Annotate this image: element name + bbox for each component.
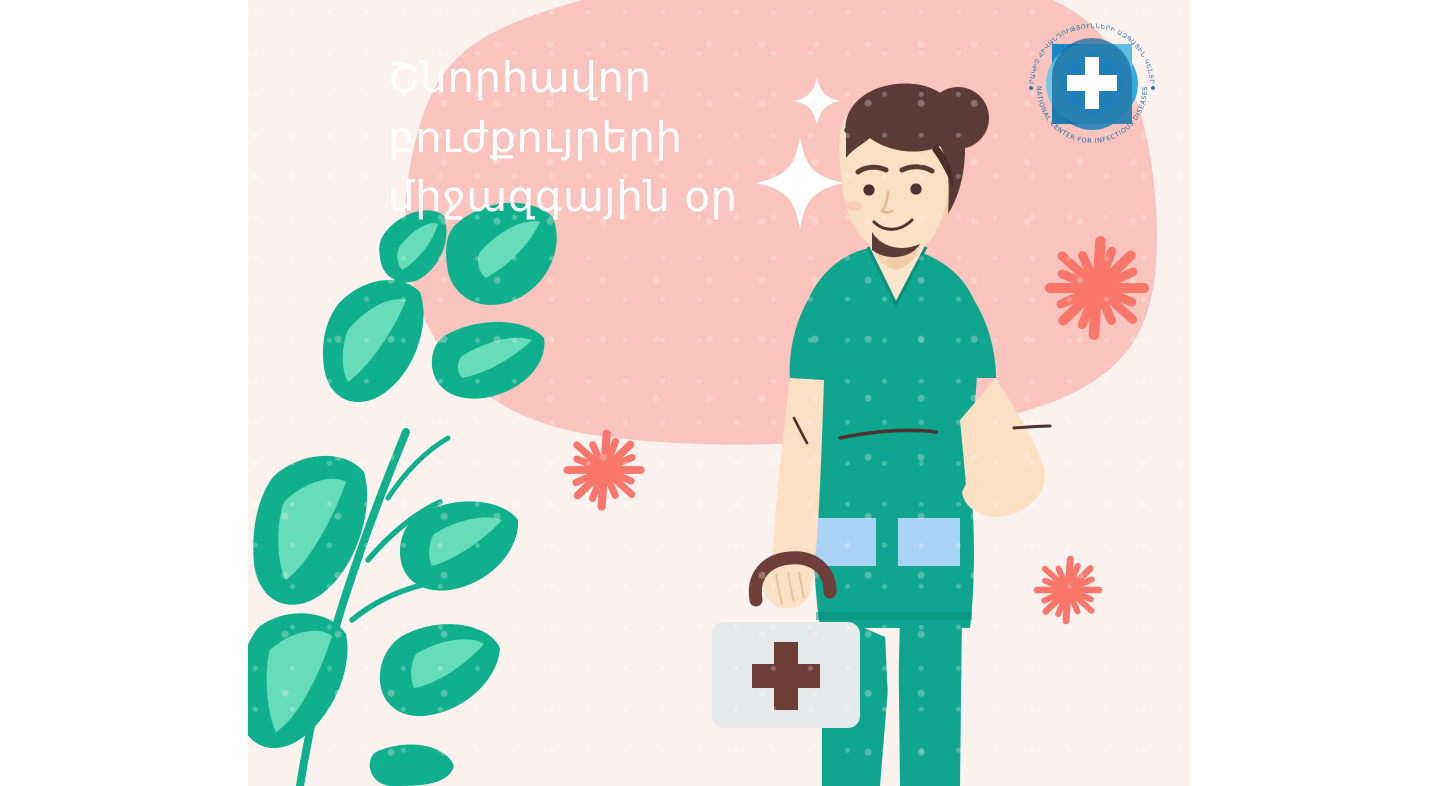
page-title: Շնորհավոր բուժքույրերի միջազգային օր: [388, 48, 928, 227]
letterbox-right: [1190, 0, 1440, 786]
poster-canvas: Շնորհավոր բուժքույրերի միջազգային օր: [0, 0, 1440, 786]
nurse-scrub-top: [806, 242, 978, 440]
letterbox-left: [0, 0, 248, 786]
headline-line-2: բուժքույրերի: [388, 108, 928, 168]
hair-bun: [927, 87, 989, 149]
logo-pinwheel-mark: [1046, 38, 1138, 130]
organization-logo: ՎԱՐԱԿԻՉ ՀԻՎԱՆԴՈՒԹՅՈՒՆՆԵՐԻ ԱԶԳԱՅԻՆ ԿԵՆՏՐՈ…: [1012, 4, 1172, 156]
logo-dot-right: [1151, 86, 1155, 90]
logo-dot-left: [1029, 86, 1033, 90]
headline-line-1: Շնորհավոր: [388, 48, 928, 108]
illustration-canvas: Շնորհավոր բուժքույրերի միջազգային օր: [248, 0, 1190, 786]
headline-line-3: միջազգային օր: [388, 167, 928, 227]
